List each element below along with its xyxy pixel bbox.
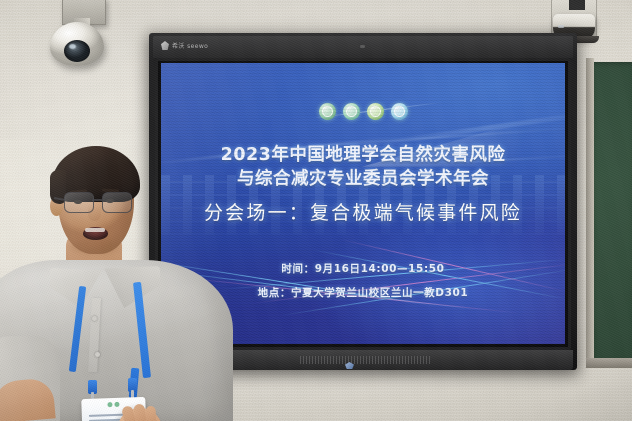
dome-camera-glint <box>69 44 76 49</box>
person-teeth <box>85 228 105 232</box>
chalkboard-frame <box>586 58 594 366</box>
eyeglass-lens <box>102 192 132 213</box>
shirt-button <box>95 352 100 357</box>
badge-emblem-icon <box>114 402 119 407</box>
brand-mark-icon <box>161 41 169 50</box>
photo-scene: 希沃 seewo 2023年中国地理学会自然灾害风险 <box>0 0 632 421</box>
dome-camera-lens <box>64 40 90 62</box>
shirt-button <box>92 316 97 321</box>
eyeglass-bridge <box>92 199 102 201</box>
wall-camera-led <box>558 25 564 28</box>
person-chin-shadow <box>70 240 120 254</box>
green-chalkboard <box>588 62 632 362</box>
speaker-person <box>0 140 233 421</box>
ir-sensor-icon <box>360 45 365 48</box>
wall-camera-tab <box>569 0 585 10</box>
display-brand: 希沃 seewo <box>161 41 208 50</box>
display-brand-label: 希沃 seewo <box>172 41 208 50</box>
display-speaker-grille <box>300 356 430 364</box>
person-finger <box>146 406 157 421</box>
person-nose <box>88 204 101 221</box>
badge-emblem-icon <box>107 402 112 407</box>
chalkboard-tray <box>586 358 632 368</box>
